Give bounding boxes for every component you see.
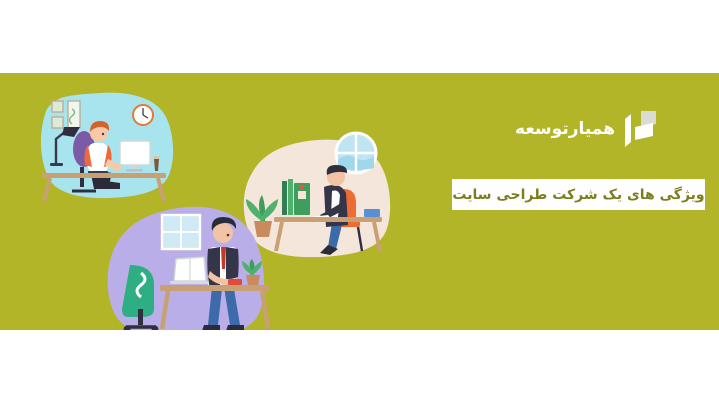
laptop — [170, 257, 210, 284]
page-title: ویژگی های یک شرکت طراحی سایت — [452, 188, 704, 202]
illustration-desk-monitor — [28, 77, 178, 202]
red-object — [228, 279, 242, 285]
book-stack — [282, 179, 310, 215]
small-box — [364, 209, 380, 217]
hero-banner: همیارتوسعه ویژگی های یک شرکت طراحی سایت — [0, 73, 719, 330]
illustration-standing-laptop — [100, 191, 275, 330]
page-canvas: همیارتوسعه ویژگی های یک شرکت طراحی سایت — [0, 0, 719, 405]
window — [162, 215, 200, 249]
headline-plaque: ویژگی های یک شرکت طراحی سایت — [452, 179, 705, 210]
wall-clock-icon — [133, 105, 153, 125]
brand-wordmark: همیارتوسعه — [515, 121, 615, 138]
brand-logo[interactable]: همیارتوسعه — [515, 109, 657, 149]
hamyar-parallelogram-logo-icon — [623, 109, 657, 149]
